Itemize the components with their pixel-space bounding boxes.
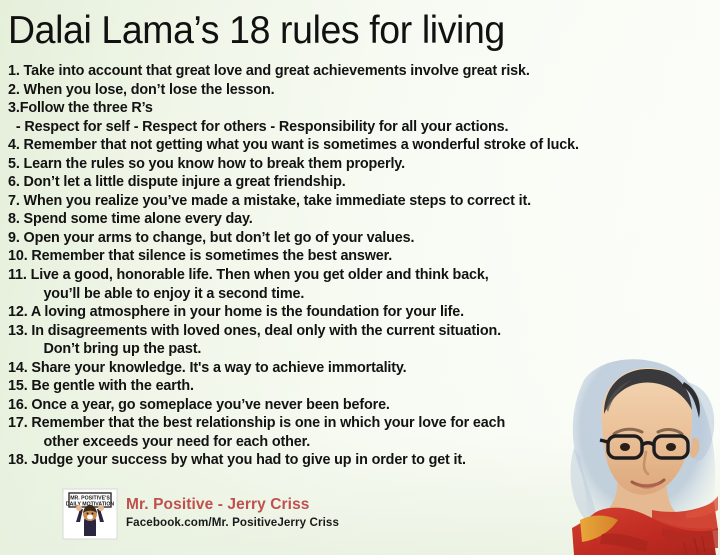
rule-line: 6. Don’t let a little dispute injure a g… — [8, 173, 688, 192]
rule-line: 18. Judge your success by what you had t… — [8, 451, 688, 470]
brand-name: Mr. Positive - Jerry Criss — [126, 496, 339, 514]
rule-line: 13. In disagreements with loved ones, de… — [8, 322, 688, 341]
poster-canvas: Dalai Lama’s 18 rules for living 1. Take… — [0, 0, 720, 555]
rule-line: 17. Remember that the best relationship … — [8, 414, 688, 433]
rule-line: 12. A loving atmosphere in your home is … — [8, 303, 688, 322]
rule-line: other exceeds your need for each other. — [8, 433, 688, 452]
brand-facebook-url[interactable]: Facebook.com/Mr. PositiveJerry Criss — [126, 515, 339, 530]
rule-line: Don’t bring up the past. — [8, 340, 688, 359]
rule-line: 10. Remember that silence is sometimes t… — [8, 247, 688, 266]
rule-line: 11. Live a good, honorable life. Then wh… — [8, 266, 688, 285]
rule-line: - Respect for self - Respect for others … — [8, 118, 688, 137]
rule-line: you’ll be able to enjoy it a second time… — [8, 285, 688, 304]
rule-line: 8. Spend some time alone every day. — [8, 210, 688, 229]
rule-line: 15. Be gentle with the earth. — [8, 377, 688, 396]
mr-positive-logo-icon: MR. POSITIVE'S DAILY MOTIVATION — [62, 488, 118, 540]
footer-branding: MR. POSITIVE'S DAILY MOTIVATION Mr. Posi… — [62, 488, 339, 540]
rule-line: 9. Open your arms to change, but don’t l… — [8, 229, 688, 248]
rule-line: 2. When you lose, don’t lose the lesson. — [8, 81, 688, 100]
rule-line: 3.Follow the three R’s — [8, 99, 688, 118]
rules-list: 1. Take into account that great love and… — [8, 62, 698, 470]
rule-line: 1. Take into account that great love and… — [8, 62, 688, 81]
rule-line: 14. Share your knowledge. It's a way to … — [8, 359, 688, 378]
page-title: Dalai Lama’s 18 rules for living — [8, 8, 505, 54]
rule-line: 7. When you realize you’ve made a mistak… — [8, 192, 688, 211]
rule-line: 5. Learn the rules so you know how to br… — [8, 155, 688, 174]
rule-line: 4. Remember that not getting what you wa… — [8, 136, 688, 155]
rule-line: 16. Once a year, go someplace you’ve nev… — [8, 396, 688, 415]
